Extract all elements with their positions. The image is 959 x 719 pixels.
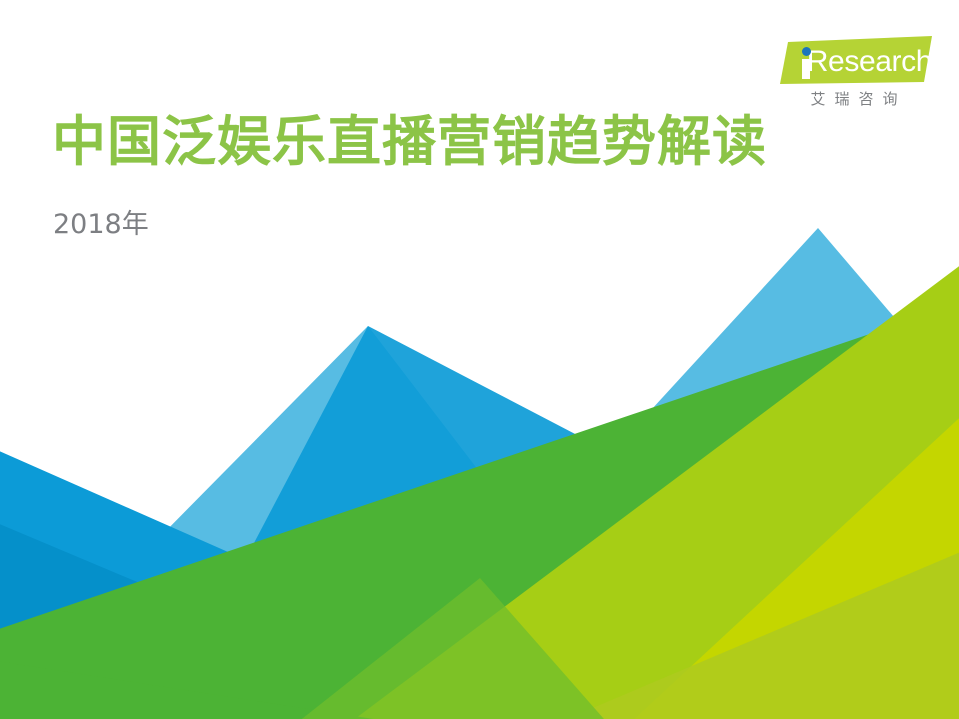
report-cover-slide: 中国泛娱乐直播营销趋势解读 2018年 Research 艾瑞咨询 [0,0,959,719]
logo-badge-shape [772,36,932,88]
page-title: 中国泛娱乐直播营销趋势解读 [52,109,767,175]
logo-chinese-name: 艾瑞咨询 [778,88,930,109]
iresearch-logo: Research 艾瑞咨询 [772,36,932,116]
page-subtitle-year: 2018年 [53,207,149,243]
